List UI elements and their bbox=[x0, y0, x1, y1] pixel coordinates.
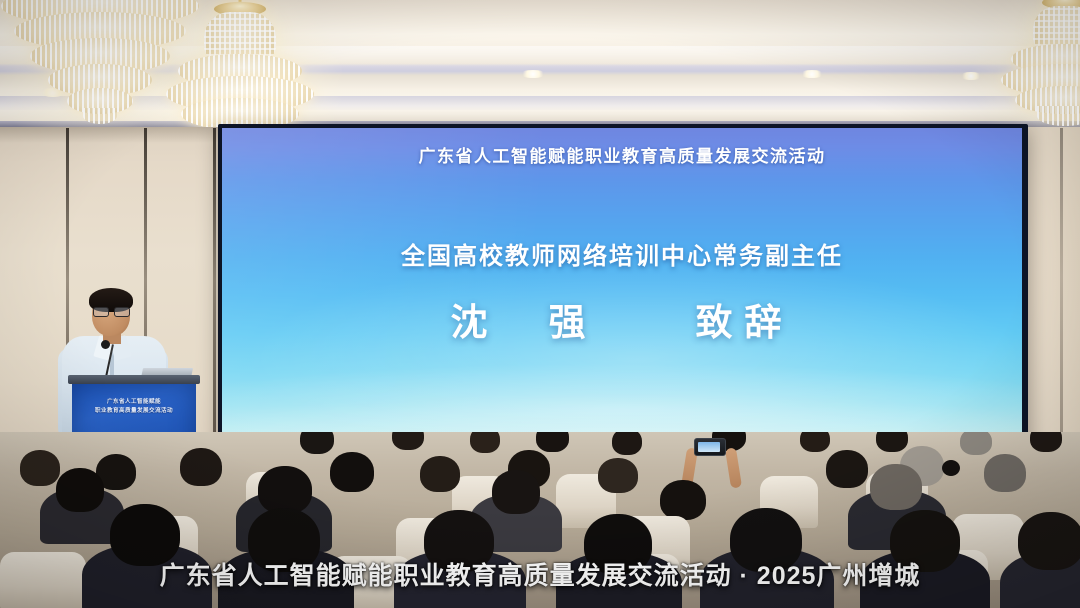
screen-speaker-role: 全国高校教师网络培训中心常务副主任 bbox=[222, 236, 1022, 271]
audience-head bbox=[826, 450, 868, 488]
audience-head bbox=[876, 432, 908, 452]
audience-head bbox=[870, 464, 922, 510]
led-screen[interactable]: 广东省人工智能赋能职业教育高质量发展交流活动 全国高校教师网络培训中心常务副主任… bbox=[222, 128, 1022, 450]
phone-screen bbox=[698, 442, 720, 452]
audience-head bbox=[598, 458, 638, 493]
audience-head bbox=[420, 456, 460, 492]
downlight-icon bbox=[520, 70, 546, 78]
screen-header-title: 广东省人工智能赋能职业教育高质量发展交流活动 bbox=[222, 142, 1022, 167]
downlight-icon bbox=[800, 70, 824, 78]
caption-overlay: 广东省人工智能赋能职业教育高质量发展交流活动 · 2025广州增城 bbox=[0, 556, 1080, 592]
audience-head bbox=[1030, 432, 1062, 452]
podium-top-surface bbox=[68, 375, 200, 384]
audience-head bbox=[960, 432, 992, 455]
audience-head bbox=[984, 454, 1026, 492]
audience-head bbox=[800, 432, 830, 452]
audience-head bbox=[20, 450, 60, 486]
audience-head bbox=[470, 432, 500, 453]
conference-photo: 广东省人工智能赋能职业教育高质量发展交流活动 全国高校教师网络培训中心常务副主任… bbox=[0, 0, 1080, 608]
audience-head bbox=[612, 432, 642, 455]
microphone-icon bbox=[101, 340, 110, 349]
audience-head bbox=[660, 480, 706, 520]
hall-wall-right bbox=[1022, 127, 1080, 467]
glasses-icon bbox=[93, 307, 129, 315]
audience-head bbox=[492, 470, 540, 514]
audience-head bbox=[330, 452, 374, 492]
wall-top-shadow bbox=[0, 127, 230, 143]
wall-panel-seam bbox=[1060, 128, 1063, 458]
podium-banner-line1: 广东省人工智能赋能 bbox=[72, 398, 196, 407]
audience-head bbox=[536, 432, 569, 452]
audience-head bbox=[300, 432, 334, 454]
audience-head bbox=[258, 466, 312, 514]
phone-icon bbox=[694, 438, 726, 456]
hair-bun bbox=[942, 460, 960, 476]
wall-panel-seam bbox=[213, 128, 216, 468]
audience-head bbox=[56, 468, 104, 512]
podium-banner-line2: 职业教育高质量发展交流活动 bbox=[72, 407, 196, 416]
audience-head bbox=[180, 448, 222, 486]
screen-speaker-name: 沈 强 致辞 bbox=[222, 292, 1022, 346]
